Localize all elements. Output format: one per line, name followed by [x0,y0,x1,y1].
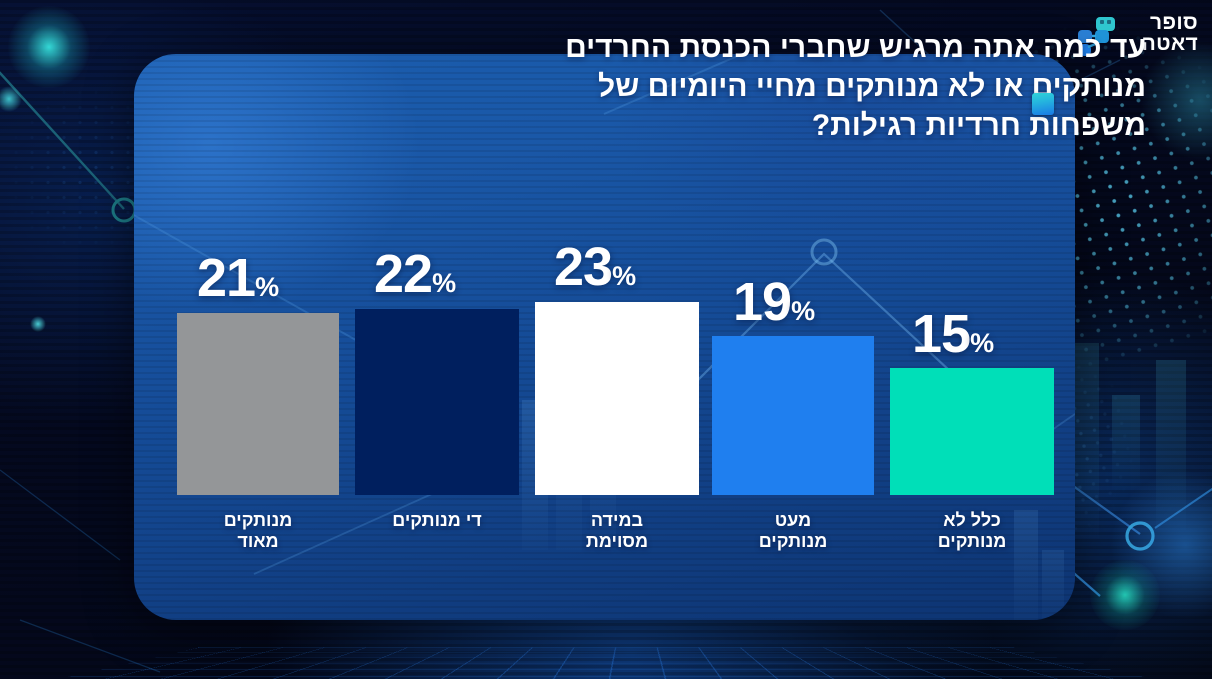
bar-value-5: 15% [912,307,995,361]
bar-value-number-3: 23 [554,237,612,297]
bar-rect-3 [535,302,699,495]
bar-value-percent-4: % [791,296,815,326]
bar-value-4: 19% [733,275,816,329]
bar-value-number-4: 19 [733,272,791,332]
bar-rect-2 [355,309,519,495]
bar-value-percent-2: % [432,268,456,298]
bar-label-3-line-2: מסוימת [535,531,699,552]
bar-label-2: די מנותקים [355,510,519,531]
bar-chart: 21% מנותקים מאוד 22% די מנותקים 23% במיד… [0,0,1212,679]
bar-value-number-5: 15 [912,304,970,364]
bar-value-percent-3: % [612,261,636,291]
bar-value-3: 23% [554,240,637,294]
bar-label-4: מעט מנותקים [712,510,874,552]
bar-rect-5 [890,368,1054,495]
bar-label-4-line-1: מעט [712,510,874,531]
bar-label-1-line-1: מנותקים [177,510,339,531]
bar-label-2-line-1: די מנותקים [355,510,519,531]
bar-label-5: כלל לא מנותקים [890,510,1054,552]
bar-value-percent-1: % [255,272,279,302]
bar-rect-1 [177,313,339,495]
bar-label-5-line-1: כלל לא [890,510,1054,531]
bar-value-number-2: 22 [374,244,432,304]
bar-value-2: 22% [374,247,457,301]
bar-label-3-line-1: במידה [535,510,699,531]
infographic-canvas: סופר דאטה עד כמה אתה מרגיש [0,0,1212,679]
bar-label-3: במידה מסוימת [535,510,699,552]
bar-value-number-1: 21 [197,248,255,308]
bar-label-1-line-2: מאוד [177,531,339,552]
bar-label-5-line-2: מנותקים [890,531,1054,552]
bar-label-4-line-2: מנותקים [712,531,874,552]
bar-rect-4 [712,336,874,495]
bar-label-1: מנותקים מאוד [177,510,339,552]
bar-value-1: 21% [197,251,280,305]
bar-value-percent-5: % [970,328,994,358]
